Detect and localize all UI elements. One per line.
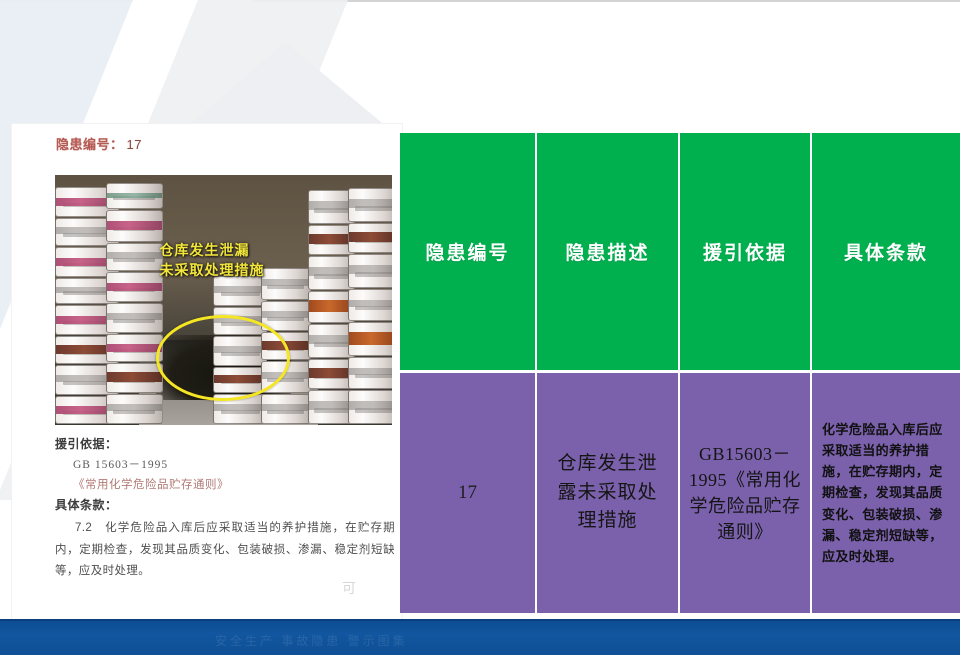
yellow-ellipse-highlight	[156, 315, 290, 401]
clause-number: 7.2	[55, 522, 92, 534]
document-panel: 隐患编号：17	[12, 124, 402, 619]
standard-code: GB 15603－1995	[55, 455, 395, 475]
watermark: 可	[342, 578, 357, 598]
cell-basis: GB15603－1995《常用化学危险品贮存通则》	[680, 370, 812, 613]
bottom-bar: 安全生产 事故隐患 警示图集	[0, 619, 960, 655]
top-divider-line	[0, 0, 960, 2]
column-header-hazard-no: 隐患编号	[400, 133, 537, 370]
standard-title: 《常用化学危险品贮存通则》	[55, 475, 395, 495]
table-row: 17 仓库发生泄露未采取处理措施 GB15603－1995《常用化学危险品贮存通…	[400, 370, 960, 613]
cell-clause: 化学危险品入库后应采取适当的养护措施，在贮存期内，定期检查，发现其品质变化、包装…	[812, 370, 960, 613]
cell-hazard-no: 17	[400, 370, 537, 613]
clause-text: 化学危险品入库后应采取适当的养护措施，在贮存期内，定期检查，发现其品质变化、包装…	[55, 522, 395, 577]
hazard-table: 隐患编号 隐患描述 援引依据 具体条款 17 仓库发生泄露未采取处理措施 GB1…	[400, 133, 960, 613]
photo-caption-overlay: 仓库发生泄漏 未采取处理措施	[159, 240, 264, 281]
photo-caption-line-1: 仓库发生泄漏	[159, 240, 264, 260]
barrel-stack	[106, 183, 163, 425]
table-header-row: 隐患编号 隐患描述 援引依据 具体条款	[400, 133, 960, 370]
column-header-basis: 援引依据	[680, 133, 812, 370]
hazard-number-label: 隐患编号：	[56, 137, 124, 152]
hazard-number-heading: 隐患编号：17	[56, 134, 142, 153]
hazard-number-value: 17	[127, 137, 142, 152]
column-header-clause: 具体条款	[812, 133, 960, 370]
bottom-bar-text: 安全生产 事故隐患 警示图集	[215, 632, 408, 649]
photo-caption-line-2: 未采取处理措施	[159, 260, 264, 280]
slide-canvas: 隐患编号：17	[0, 0, 960, 655]
clause-heading: 具体条款：	[55, 495, 395, 516]
document-text-block: 援引依据： GB 15603－1995 《常用化学危险品贮存通则》 具体条款： …	[55, 434, 395, 582]
basis-heading: 援引依据：	[55, 434, 395, 455]
clause-body: 7.2 化学危险品入库后应采取适当的养护措施，在贮存期内，定期检查，发现其品质变…	[55, 518, 395, 582]
hazard-photo: 仓库发生泄漏 未采取处理措施	[55, 175, 392, 425]
cell-hazard-desc: 仓库发生泄露未采取处理措施	[537, 370, 680, 613]
column-header-hazard-desc: 隐患描述	[537, 133, 680, 370]
barrel-stack	[348, 188, 392, 425]
